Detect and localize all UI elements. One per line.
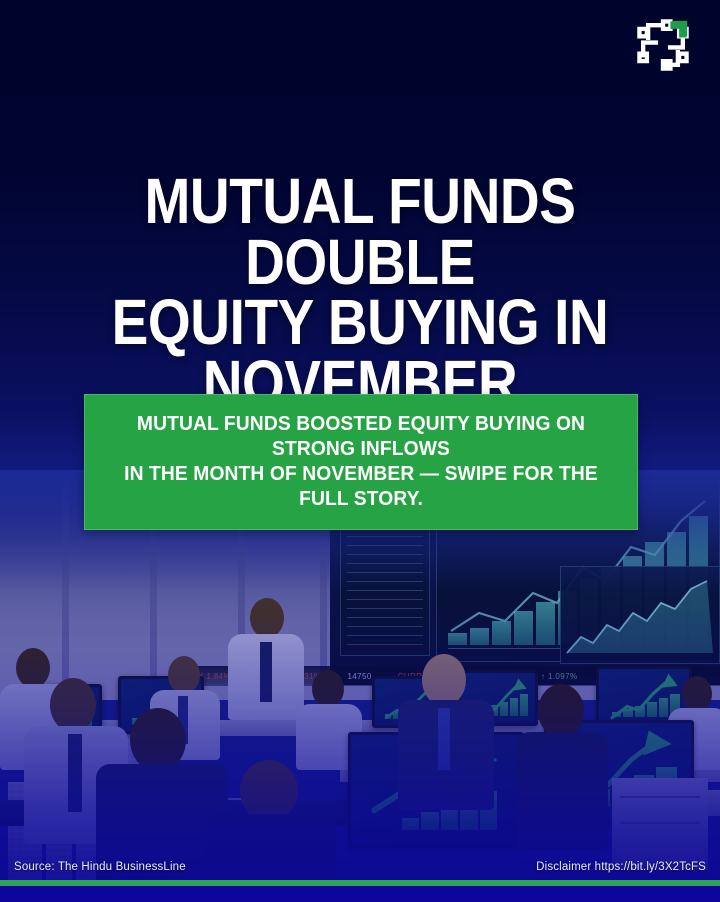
page-title: MUTUAL FUNDS DOUBLE EQUITY BUYING IN NOV… bbox=[0, 171, 720, 414]
pinwheel-star-logo bbox=[632, 14, 694, 76]
source-label: Source: The Hindu BusinessLine bbox=[14, 861, 186, 873]
trading-floor-photo: DNAX 1.84% FASTING 0.31% 14750 CURRENT ▼… bbox=[0, 470, 720, 902]
footer: Source: The Hindu BusinessLine Disclaime… bbox=[0, 854, 720, 902]
callout-box: MUTUAL FUNDS BOOSTED EQUITY BUYING ON ST… bbox=[84, 394, 638, 530]
footer-bar bbox=[0, 886, 720, 902]
disclaimer-link[interactable]: Disclaimer https://bit.ly/3X2TcFS bbox=[536, 861, 706, 873]
poster: DNAX 1.84% FASTING 0.31% 14750 CURRENT ▼… bbox=[0, 0, 720, 902]
callout-line-2: IN THE MONTH OF NOVEMBER — SWIPE FOR THE… bbox=[118, 461, 603, 511]
headline-line-1: MUTUAL FUNDS DOUBLE bbox=[50, 171, 669, 293]
callout-line-1: MUTUAL FUNDS BOOSTED EQUITY BUYING ON ST… bbox=[118, 411, 603, 461]
